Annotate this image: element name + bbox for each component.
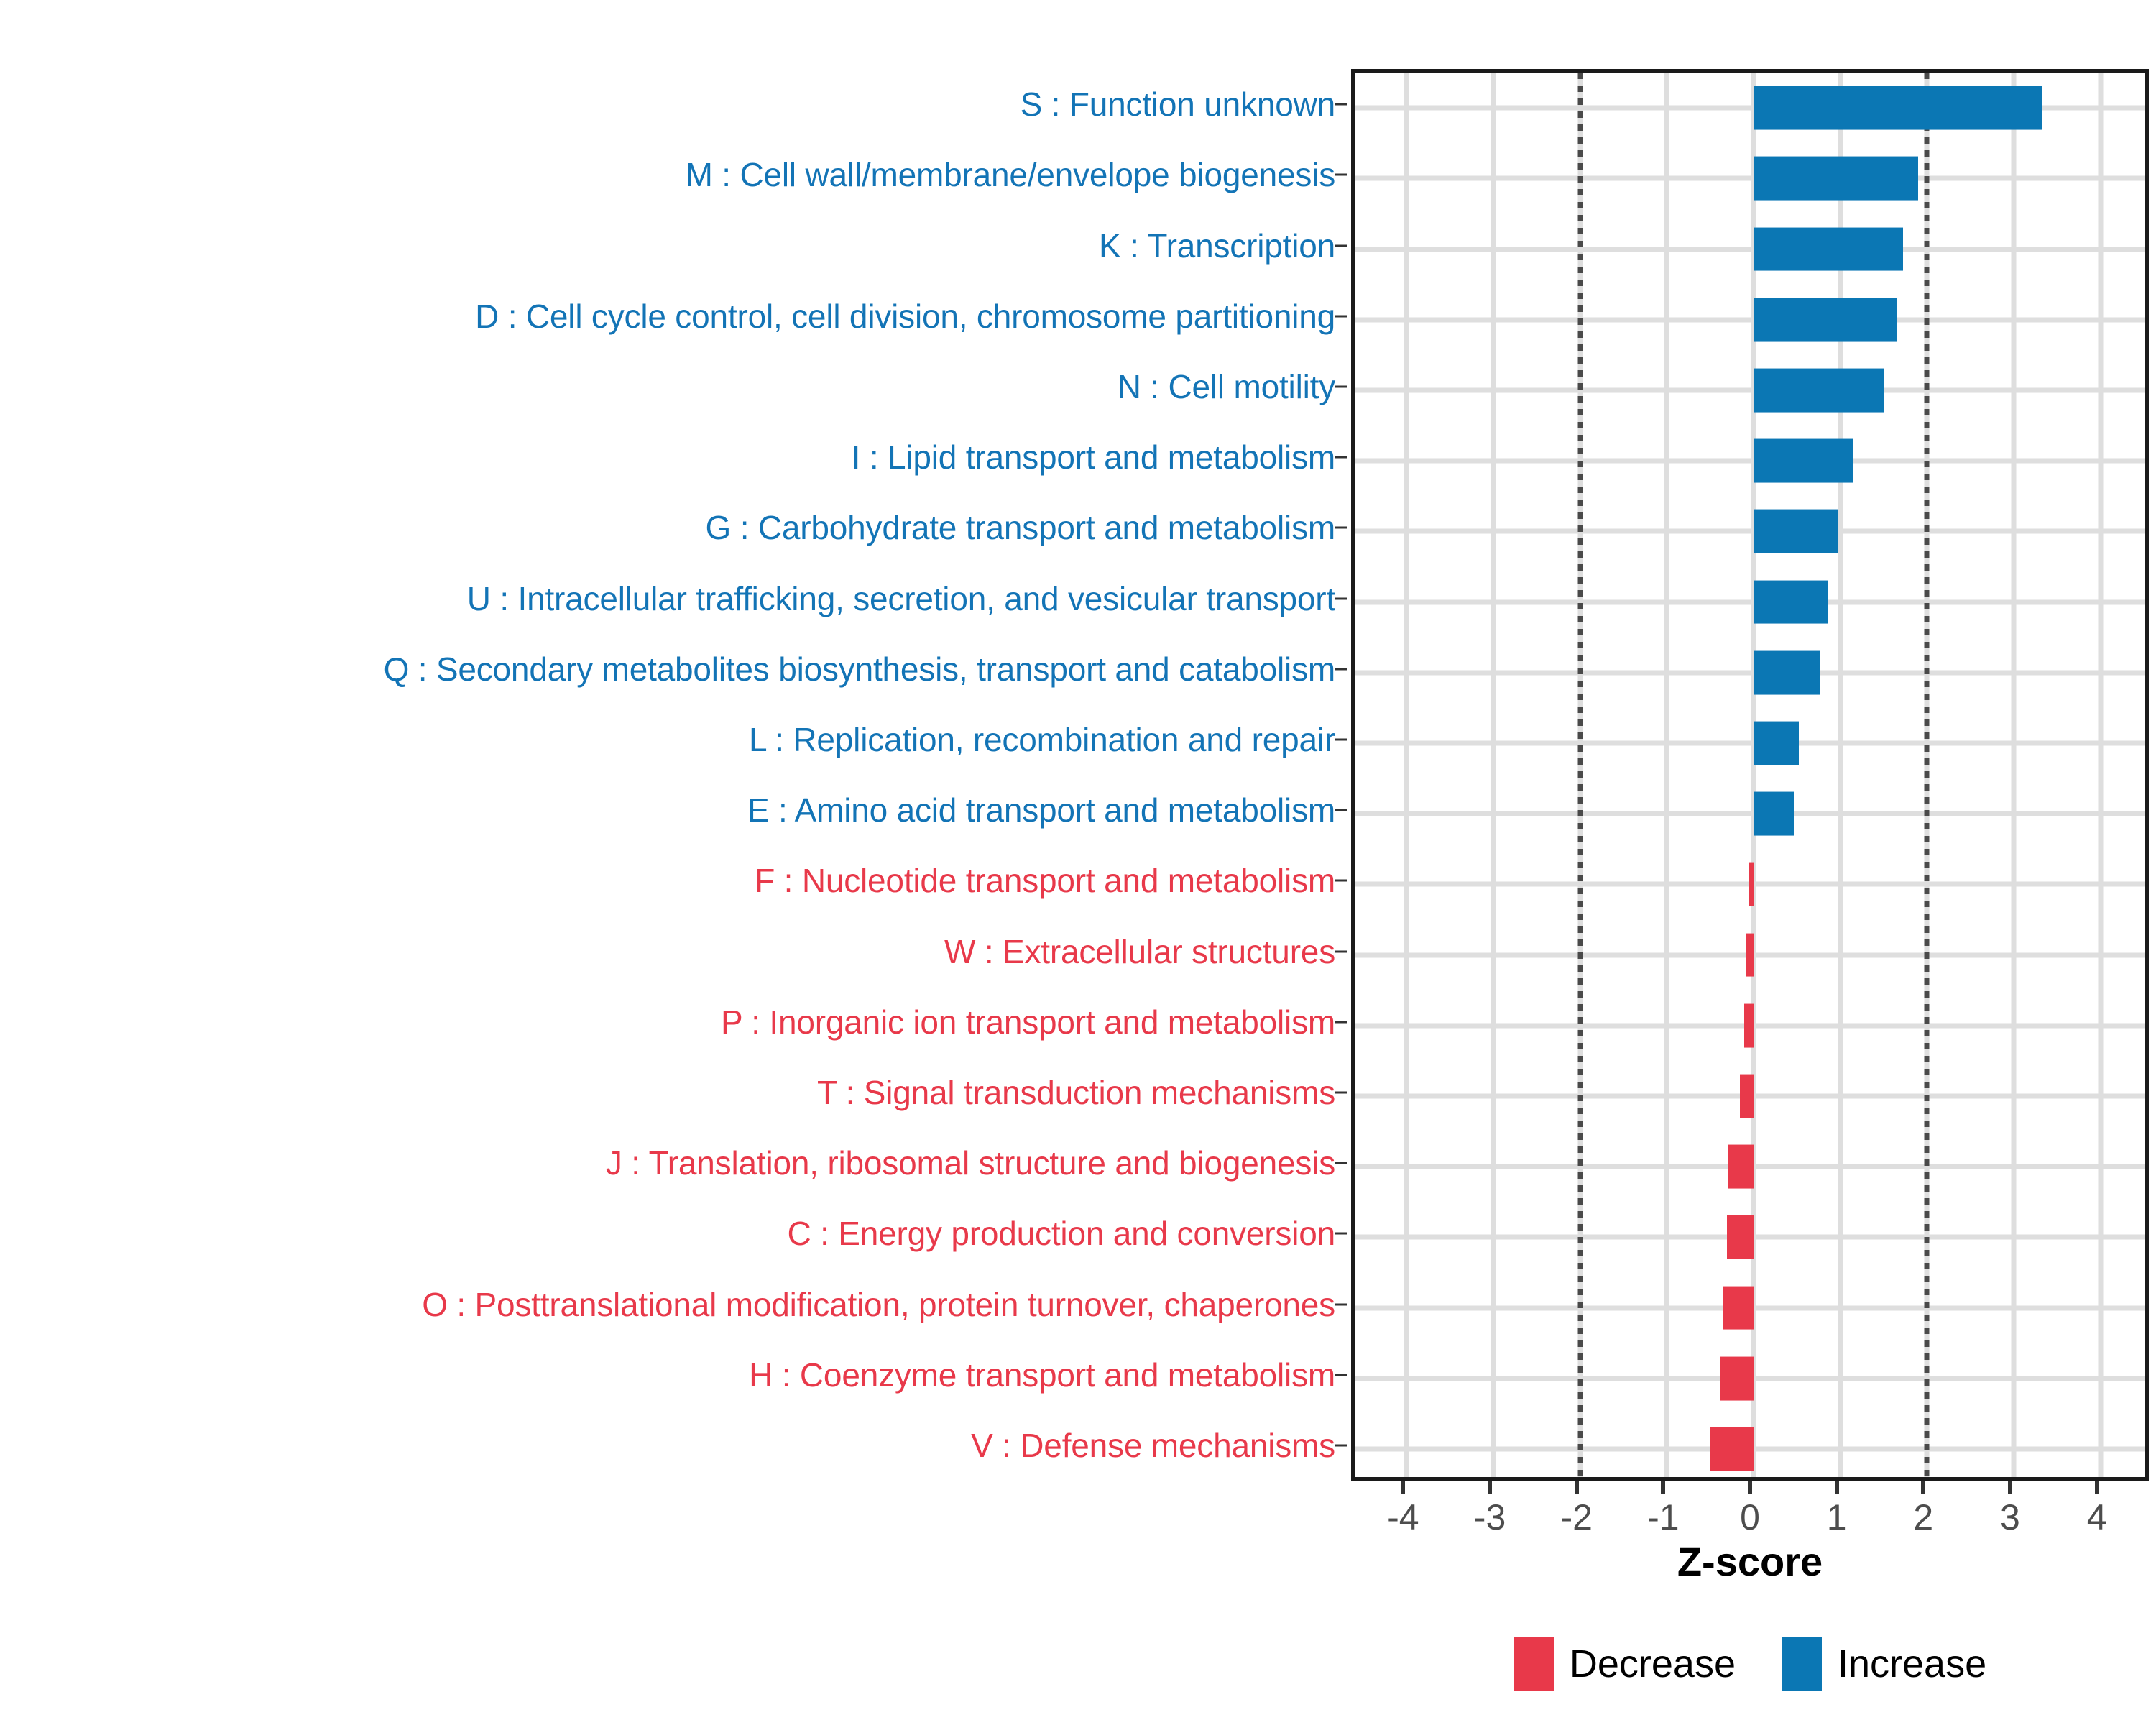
legend-swatch-decrease-icon (1514, 1637, 1554, 1690)
y-axis-label: G : Carbohydrate transport and metabolis… (706, 511, 1335, 544)
y-axis-label: Q : Secondary metabolites biosynthesis, … (384, 653, 1335, 686)
y-axis-tick-mark (1335, 950, 1347, 952)
y-axis-tick-mark (1335, 244, 1347, 247)
x-axis-tick-label: -2 (1560, 1496, 1592, 1538)
y-axis-label: V : Defense mechanisms (971, 1429, 1335, 1462)
bar-increase (1754, 510, 1838, 553)
horizontal-gridline (1355, 529, 2145, 534)
y-axis-label: I : Lipid transport and metabolism (852, 441, 1335, 474)
x-axis-tick-label: -4 (1387, 1496, 1419, 1538)
bar-decrease (1744, 1003, 1754, 1047)
horizontal-gridline (1355, 459, 2145, 464)
x-axis-tick-label: 1 (1827, 1496, 1847, 1538)
x-axis-tick-label: -3 (1474, 1496, 1506, 1538)
bar-increase (1754, 650, 1820, 694)
x-axis-tick-mark (1661, 1481, 1665, 1494)
y-axis-tick-mark (1335, 103, 1347, 106)
bar-increase (1754, 368, 1884, 412)
y-axis-tick-mark (1335, 456, 1347, 459)
bar-increase (1754, 227, 1903, 271)
bar-increase (1754, 298, 1897, 341)
x-axis-tick-mark (2008, 1481, 2012, 1494)
horizontal-gridline (1355, 599, 2145, 604)
bar-decrease (1710, 1427, 1754, 1471)
vertical-gridline (2098, 73, 2103, 1477)
legend-label-increase: Increase (1838, 1642, 1986, 1686)
horizontal-gridline (1355, 176, 2145, 181)
y-axis-tick-mark (1335, 1374, 1347, 1376)
x-axis-tick-label: 3 (2000, 1496, 2020, 1538)
horizontal-gridline (1355, 740, 2145, 745)
vertical-gridline (1751, 73, 1756, 1477)
x-axis-title: Z-score (1351, 1538, 2149, 1585)
x-axis-tick-label: -1 (1647, 1496, 1679, 1538)
y-axis-tick-mark (1335, 174, 1347, 176)
y-axis-label: H : Coenzyme transport and metabolism (749, 1358, 1335, 1391)
bar-increase (1754, 721, 1799, 765)
y-axis-tick-mark (1335, 315, 1347, 317)
x-axis-tick-mark (1401, 1481, 1405, 1494)
bar-increase (1754, 439, 1853, 483)
y-axis-tick-mark (1335, 1303, 1347, 1305)
bar-increase (1754, 580, 1828, 624)
horizontal-gridline (1355, 247, 2145, 252)
y-axis-label: J : Translation, ribosomal structure and… (606, 1146, 1335, 1179)
bar-decrease (1740, 1074, 1754, 1118)
vertical-gridline (1491, 73, 1496, 1477)
y-axis-tick-mark (1335, 597, 1347, 599)
y-axis-label: P : Inorganic ion transport and metaboli… (721, 1006, 1335, 1039)
y-axis-label: F : Nucleotide transport and metabolism (755, 864, 1335, 897)
y-axis-tick-mark (1335, 385, 1347, 387)
y-axis-category-labels: S : Function unknownM : Cell wall/membra… (0, 69, 1344, 1481)
legend-label-decrease: Decrease (1570, 1642, 1736, 1686)
horizontal-gridline (1355, 387, 2145, 392)
legend: Decrease Increase (1351, 1632, 2149, 1696)
x-axis-tick-mark (1575, 1481, 1579, 1494)
plot-panel (1351, 69, 2149, 1481)
y-axis-label: C : Energy production and conversion (788, 1217, 1335, 1250)
horizontal-gridline (1355, 811, 2145, 816)
y-axis-label: T : Signal transduction mechanisms (817, 1076, 1335, 1109)
y-axis-label: D : Cell cycle control, cell division, c… (475, 300, 1335, 333)
y-axis-tick-mark (1335, 1021, 1347, 1023)
x-axis-tick-mark (1921, 1481, 1925, 1494)
x-axis-tick-mark (2095, 1481, 2099, 1494)
legend-item-decrease: Decrease (1514, 1637, 1736, 1690)
y-axis-label: M : Cell wall/membrane/envelope biogenes… (686, 158, 1335, 191)
bar-increase (1754, 86, 2042, 130)
y-axis-tick-mark (1335, 738, 1347, 740)
y-axis-tick-mark (1335, 809, 1347, 811)
x-axis-tick-label: 4 (2087, 1496, 2107, 1538)
bar-increase (1754, 792, 1794, 836)
bar-decrease (1746, 933, 1754, 977)
reference-line (1925, 73, 1930, 1477)
bar-decrease (1727, 1215, 1754, 1259)
y-axis-label: K : Transcription (1099, 229, 1335, 262)
x-axis-tick-mark (1835, 1481, 1839, 1494)
y-axis-label: L : Replication, recombination and repai… (749, 723, 1335, 756)
y-axis-tick-mark (1335, 1233, 1347, 1235)
bar-decrease (1728, 1145, 1754, 1189)
vertical-gridline (1664, 73, 1669, 1477)
vertical-gridline (1838, 73, 1843, 1477)
y-axis-tick-mark (1335, 668, 1347, 670)
horizontal-gridline (1355, 670, 2145, 675)
x-axis-tick-mark (1488, 1481, 1492, 1494)
y-axis-label: E : Amino acid transport and metabolism (747, 793, 1335, 827)
y-axis-label: W : Extracellular structures (944, 935, 1335, 968)
legend-swatch-increase-icon (1782, 1637, 1822, 1690)
plot-panel-inner (1355, 73, 2145, 1477)
y-axis-label: O : Posttranslational modification, prot… (422, 1288, 1335, 1321)
y-axis-tick-mark (1335, 1091, 1347, 1093)
vertical-gridline (1404, 73, 1409, 1477)
horizontal-gridline (1355, 317, 2145, 322)
y-axis-tick-mark (1335, 1444, 1347, 1446)
x-axis-tick-mark (1748, 1481, 1752, 1494)
y-axis-label: U : Intracellular trafficking, secretion… (467, 582, 1335, 615)
cog-zscore-barchart: S : Function unknownM : Cell wall/membra… (0, 0, 2156, 1725)
bar-increase (1754, 157, 1918, 201)
vertical-gridline (2011, 73, 2016, 1477)
y-axis-tick-mark (1335, 1162, 1347, 1164)
bar-decrease (1720, 1356, 1754, 1400)
legend-item-increase: Increase (1782, 1637, 1986, 1690)
y-axis-label: S : Function unknown (1021, 88, 1335, 121)
bar-decrease (1749, 862, 1754, 906)
bar-decrease (1723, 1286, 1754, 1330)
reference-line (1577, 73, 1583, 1477)
y-axis-label: N : Cell motility (1118, 370, 1335, 403)
x-axis-tick-label: 2 (1913, 1496, 1933, 1538)
y-axis-tick-mark (1335, 527, 1347, 529)
y-axis-tick-mark (1335, 880, 1347, 882)
x-axis-tick-label: 0 (1740, 1496, 1760, 1538)
